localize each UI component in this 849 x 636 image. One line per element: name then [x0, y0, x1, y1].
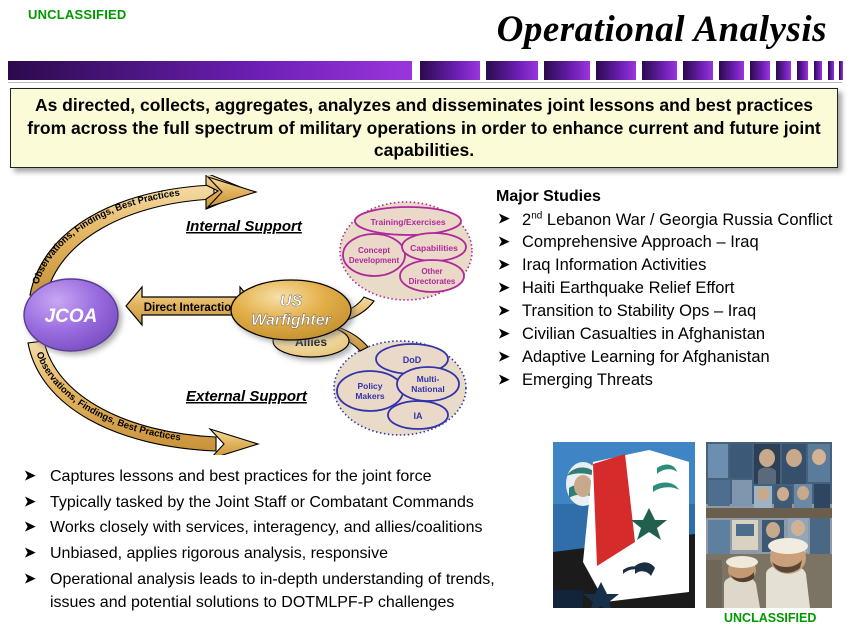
study-label-2: Iraq Information Activities [522, 256, 706, 274]
svg-text:Other: Other [421, 267, 442, 276]
svg-text:IA: IA [414, 411, 424, 421]
bullet-arrow-icon: ➤ [498, 301, 510, 320]
study-label-6: Adaptive Learning for Afghanistan [522, 348, 770, 366]
bullet-arrow-icon: ➤ [498, 232, 510, 251]
mission-statement-text: As directed, collects, aggregates, analy… [27, 94, 821, 161]
bullet-arrow-icon: ➤ [498, 278, 510, 297]
list-item: ➤ Civilian Casualties in Afghanistan [496, 324, 841, 346]
external-support-label: External Support [186, 388, 308, 405]
external-support-cluster: DoD Policy Makers Multi- National IA [334, 341, 466, 435]
bullet-arrow-icon: ➤ [498, 347, 510, 366]
classification-banner-bottom: UNCLASSIFIED [724, 611, 816, 625]
svg-text:Makers: Makers [355, 391, 385, 401]
study-label-3: Haiti Earthquake Relief Effort [522, 279, 734, 297]
classification-banner-top: UNCLASSIFIED [28, 7, 126, 22]
bullet-arrow-icon: ➤ [24, 492, 36, 512]
svg-text:Internal Support: Internal Support [186, 218, 303, 235]
svg-text:Development: Development [349, 256, 400, 265]
major-studies-heading: Major Studies [496, 188, 841, 206]
bullet-label-2: Works closely with services, interagency… [50, 519, 482, 536]
bullet-arrow-icon: ➤ [498, 370, 510, 389]
list-item: ➤ Unbiased, applies rigorous analysis, r… [24, 543, 534, 566]
rule-underline [8, 82, 842, 83]
jcoa-support-diagram: Observations, Findings, Best Practices O… [8, 175, 488, 455]
list-item: ➤ Iraq Information Activities [496, 255, 841, 277]
svg-text:Direct Interaction: Direct Interaction [144, 302, 239, 314]
capabilities-bullet-list: ➤ Captures lessons and best practices fo… [24, 466, 534, 617]
bullet-arrow-icon: ➤ [24, 466, 36, 486]
study-label-5: Civilian Casualties in Afghanistan [522, 325, 765, 343]
study-label-4: Transition to Stability Ops – Iraq [522, 302, 756, 320]
bullet-arrow-icon: ➤ [498, 324, 510, 343]
study-label-0: 2nd Lebanon War / Georgia Russia Conflic… [522, 211, 832, 229]
internal-support-cluster: Training/Exercises Concept Development C… [340, 202, 472, 300]
svg-text:National: National [411, 384, 445, 394]
bullet-arrow-icon: ➤ [24, 569, 36, 589]
list-item: ➤ Typically tasked by the Joint Staff or… [24, 492, 534, 515]
svg-text:JCOA: JCOA [45, 306, 98, 327]
svg-text:Directorates: Directorates [409, 277, 456, 286]
internal-support-label: Internal Support [186, 218, 303, 235]
list-item: ➤ Operational analysis leads to in-depth… [24, 569, 534, 614]
list-item: ➤ Adaptive Learning for Afghanistan [496, 347, 841, 369]
svg-text:Concept: Concept [358, 246, 390, 255]
list-item: ➤ 2nd Lebanon War / Georgia Russia Confl… [496, 209, 841, 231]
list-item: ➤ Captures lessons and best practices fo… [24, 466, 534, 489]
svg-text:Training/Exercises: Training/Exercises [370, 217, 445, 227]
major-studies-panel: Major Studies ➤ 2nd Lebanon War / Georgi… [496, 188, 841, 393]
svg-text:Warfighter: Warfighter [251, 312, 331, 329]
svg-text:External Support: External Support [186, 388, 308, 405]
bullet-arrow-icon: ➤ [498, 209, 510, 228]
bullet-arrow-icon: ➤ [498, 255, 510, 274]
bullet-label-1: Typically tasked by the Joint Staff or C… [50, 494, 474, 511]
slide-root: UNCLASSIFIED Operational Analysis As dir… [0, 0, 849, 636]
major-studies-list: ➤ 2nd Lebanon War / Georgia Russia Confl… [496, 209, 841, 392]
svg-text:DoD: DoD [403, 355, 422, 365]
curve-label-bottom: Observations, Findings, Best Practices [34, 350, 182, 443]
photo-election-posters [706, 442, 832, 608]
svg-text:US: US [280, 293, 303, 310]
list-item: ➤ Comprehensive Approach – Iraq [496, 232, 841, 254]
page-title: Operational Analysis [497, 8, 827, 51]
photo-iraqi-flag [553, 442, 695, 608]
svg-text:Capabilities: Capabilities [410, 243, 458, 253]
decorative-rule-bar [8, 61, 842, 80]
bullet-arrow-icon: ➤ [24, 543, 36, 563]
list-item: ➤ Haiti Earthquake Relief Effort [496, 278, 841, 300]
mission-statement-box: As directed, collects, aggregates, analy… [10, 88, 838, 168]
list-item: ➤ Transition to Stability Ops – Iraq [496, 301, 841, 323]
us-warfighter-node: US Warfighter [231, 280, 351, 340]
study-label-7: Emerging Threats [522, 371, 653, 389]
bullet-label-0: Captures lessons and best practices for … [50, 468, 432, 485]
arrowhead-top-right [208, 177, 256, 207]
bullet-label-4: Operational analysis leads to in-depth u… [50, 571, 495, 611]
study-label-1: Comprehensive Approach – Iraq [522, 233, 759, 251]
bullet-label-3: Unbiased, applies rigorous analysis, res… [50, 545, 388, 562]
bullet-arrow-icon: ➤ [24, 517, 36, 537]
list-item: ➤ Emerging Threats [496, 370, 841, 392]
svg-text:Policy: Policy [357, 381, 382, 391]
svg-text:Multi-: Multi- [417, 374, 440, 384]
jcoa-node: JCOA [24, 279, 118, 351]
list-item: ➤ Works closely with services, interagen… [24, 517, 534, 540]
